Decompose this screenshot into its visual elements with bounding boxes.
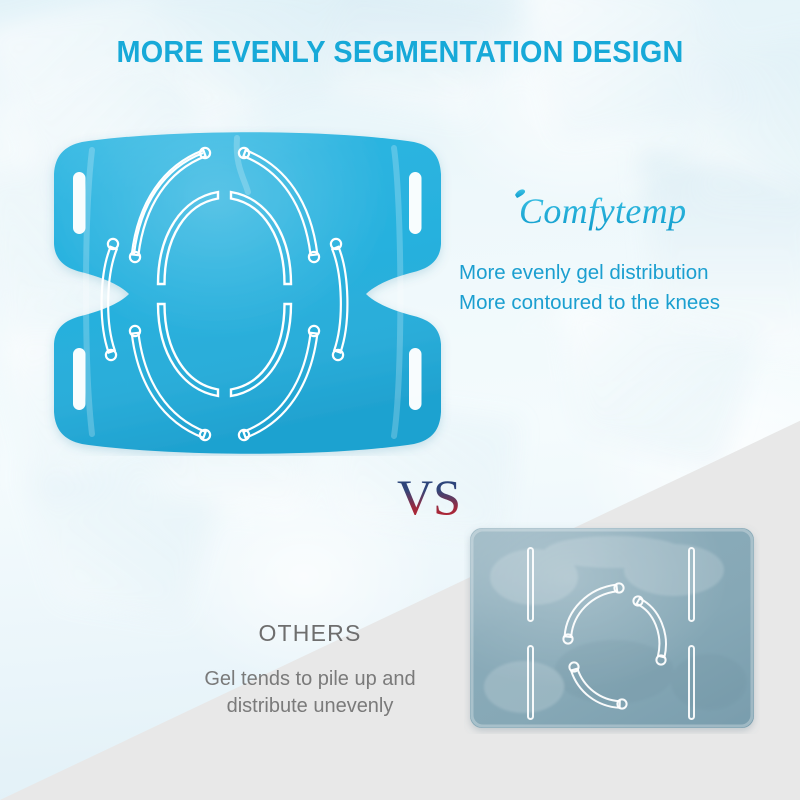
versus-separator-svg: VS	[396, 468, 476, 522]
benefit-line-1: More evenly gel distribution	[459, 258, 789, 288]
others-heading: OTHERS	[140, 620, 480, 647]
comfytemp-gel-pad-image	[22, 126, 472, 456]
other-brand-gel-pad-svg	[464, 522, 760, 734]
strap-slot-top-left	[73, 172, 86, 234]
comfytemp-gel-pad-svg	[22, 126, 472, 456]
brand-logo-svg: Comfytemp	[505, 186, 735, 232]
strap-slot-bottom-left	[73, 348, 86, 410]
page-title: MORE EVENLY SEGMENTATION DESIGN	[28, 34, 772, 70]
brand-name-text: Comfytemp	[519, 191, 687, 231]
strap-slot-bottom-right	[409, 348, 422, 410]
comfytemp-brand-logo: Comfytemp	[505, 186, 735, 232]
benefits-list: More evenly gel distribution More contou…	[459, 258, 789, 318]
others-description-line-2: distribute unevenly	[140, 693, 480, 720]
strap-slot-top-right	[409, 172, 422, 234]
benefit-line-2: More contoured to the knees	[459, 288, 789, 318]
versus-text: VS	[397, 469, 461, 522]
gel-pad-body	[54, 132, 441, 454]
other-brand-gel-pad-image	[464, 522, 760, 734]
others-description: Gel tends to pile up and distribute unev…	[140, 666, 480, 720]
versus-separator: VS	[396, 468, 476, 522]
others-description-line-1: Gel tends to pile up and	[140, 666, 480, 693]
product-comparison-graphic: MORE EVENLY SEGMENTATION DESIGN	[0, 0, 800, 800]
